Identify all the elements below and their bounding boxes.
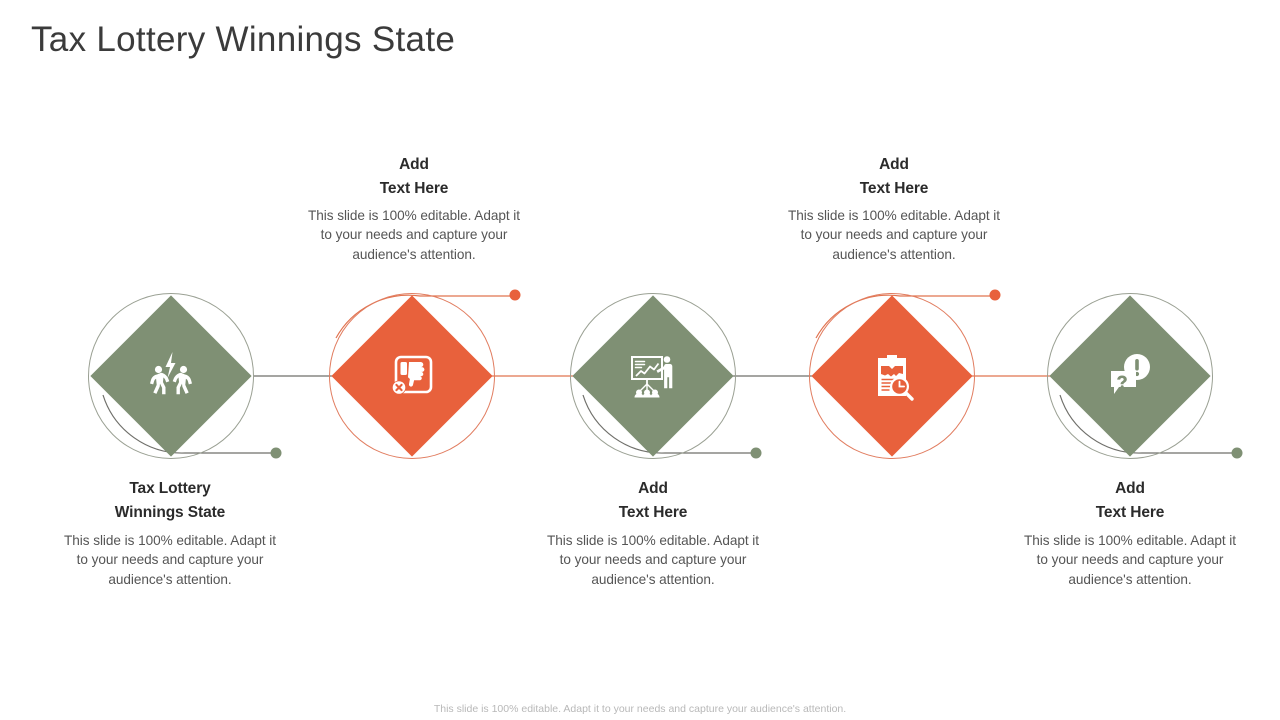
node-body-1: This slide is 100% editable. Adapt it to… <box>60 531 280 589</box>
endpoint-dot-1 <box>271 448 282 459</box>
process-node-4[interactable] <box>809 293 979 463</box>
slide-canvas: Tax Lottery Winnings State <box>0 0 1280 720</box>
node-text-4: Add Text Here This slide is 100% editabl… <box>784 153 1004 264</box>
presentation-training-icon <box>570 293 736 459</box>
endpoint-dot-4 <box>990 290 1001 301</box>
process-node-3[interactable] <box>570 293 740 463</box>
node-heading-5: Add Text Here <box>1020 477 1240 525</box>
clipboard-handshake-review-icon <box>809 293 975 459</box>
slide-footer-note: This slide is 100% editable. Adapt it to… <box>0 703 1280 715</box>
node-text-2: Add Text Here This slide is 100% editabl… <box>304 153 524 264</box>
node-heading-2: Add Text Here <box>304 153 524 201</box>
process-node-1[interactable] <box>88 293 258 463</box>
people-running-lightning-icon <box>88 293 254 459</box>
node-body-4: This slide is 100% editable. Adapt it to… <box>784 206 1004 264</box>
endpoint-dot-3 <box>751 448 762 459</box>
node-heading-4: Add Text Here <box>784 153 1004 201</box>
node-text-1: Tax Lottery Winnings State This slide is… <box>60 477 280 589</box>
node-heading-3: Add Text Here <box>543 477 763 525</box>
process-node-5[interactable] <box>1047 293 1217 463</box>
question-alert-bubble-icon <box>1047 293 1213 459</box>
node-text-3: Add Text Here This slide is 100% editabl… <box>543 477 763 589</box>
node-body-5: This slide is 100% editable. Adapt it to… <box>1020 531 1240 589</box>
node-heading-1: Tax Lottery Winnings State <box>60 477 280 525</box>
endpoint-dot-2 <box>510 290 521 301</box>
endpoint-dot-5 <box>1232 448 1243 459</box>
thumbs-down-reject-icon <box>329 293 495 459</box>
process-node-2[interactable] <box>329 293 499 463</box>
node-body-3: This slide is 100% editable. Adapt it to… <box>543 531 763 589</box>
node-body-2: This slide is 100% editable. Adapt it to… <box>304 206 524 264</box>
node-text-5: Add Text Here This slide is 100% editabl… <box>1020 477 1240 589</box>
